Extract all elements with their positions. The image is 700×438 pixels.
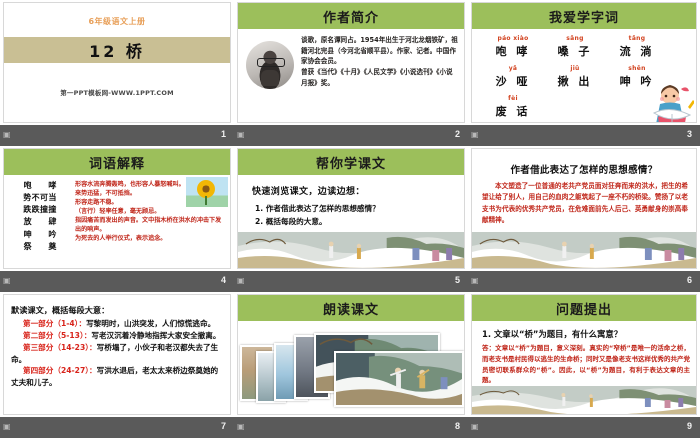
slide-number-8: 8: [455, 421, 460, 431]
word-pinyin: jiū: [544, 65, 606, 72]
slide-thumb-icon: ▣: [471, 422, 481, 432]
slide2-text-block: 谈歌，原名谭同占。1954年出生于河北龙烟铁矿，祖籍河北完县（今河北省顺平县）。…: [301, 35, 458, 89]
slide4-header: 词语解释: [4, 149, 230, 175]
part-label: 第四部分（24-27）：: [23, 366, 97, 375]
word-item: sǎng 嗓 子: [544, 36, 606, 59]
slide-thumbnail-8[interactable]: 朗读课文: [234, 292, 468, 438]
slide-number-7: 7: [221, 421, 226, 431]
term-item: 咆 哮: [9, 180, 71, 192]
slide6-body: 作者借此表达了怎样的思想感情？ 本文塑造了一位普通的老共产党员面对狂奔而来的洪水…: [472, 149, 696, 269]
slide-thumbnail-5[interactable]: 帮你学课文 快速浏览课文，边读边想： 1. 作者借此表达了怎样的思想感情？ 2.…: [234, 146, 468, 292]
term-item: 跌跌撞撞: [9, 204, 71, 216]
term-item: 祭 奠: [9, 241, 71, 253]
slide-thumb-icon: ▣: [237, 130, 247, 140]
slide6-question: 作者借此表达了怎样的思想感情？: [472, 149, 696, 176]
slide9-question: 1. 文章以“桥”为题目，有什么寓意？: [472, 321, 696, 340]
slide-number-1: 1: [221, 129, 226, 139]
slide-thumb-icon: ▣: [3, 276, 13, 286]
slide-thumb-icon: ▣: [471, 276, 481, 286]
slide7-part: 第三部分（14-23）：写桥塌了，小伙子和老汉都失去了生命。: [11, 342, 225, 366]
slide-statusbar-3: ▣ 3: [468, 125, 700, 146]
slide9-body: 1. 文章以“桥”为题目，有什么寓意？ 答：文章以“桥”为题目，意义深刻。真实的…: [472, 321, 696, 415]
slide5-question-1: 1. 作者借此表达了怎样的思想感情？: [255, 202, 456, 215]
slide1-title: 12 桥: [89, 38, 145, 62]
word-hanzi: 流 淌: [606, 43, 668, 59]
slide9-answer: 答：文章以“桥”为题目，意义深刻。真实的“窄桥”是唯一的活命之桥，而老支书是村民…: [472, 340, 696, 386]
word-hanzi: 嗓 子: [544, 43, 606, 59]
slide3-body: páo xiào 咆 哮 sǎng 嗓 子 tǎng 流 淌 yǎ: [472, 29, 696, 123]
slide-statusbar-6: ▣ 6: [468, 271, 700, 292]
word-item: fèi 废 话: [482, 96, 544, 119]
slide1-title-band: 12 桥: [4, 37, 230, 63]
slide-statusbar-7: ▣ 7: [0, 417, 234, 438]
slide-thumbnail-9[interactable]: 问题提出 1. 文章以“桥”为题目，有什么寓意？ 答：文章以“桥”为题目，意义深…: [468, 292, 700, 438]
word-pinyin: páo xiào: [482, 35, 544, 42]
word-hanzi: 废 话: [482, 103, 544, 119]
word-hanzi: 咆 哮: [482, 43, 544, 59]
slide2-header: 作者简介: [238, 3, 464, 29]
flood-illustration: [472, 232, 696, 269]
slide-statusbar-5: ▣ 5: [234, 271, 468, 292]
slide8-body: [238, 321, 464, 415]
slide6-answer: 本文塑造了一位普通的老共产党员面对狂奔而来的洪水，把生的希望让给了别人，用自己的…: [472, 176, 696, 226]
definition-item: 为死去的人举行仪式，表示追念。: [75, 234, 227, 243]
word-item: páo xiào 咆 哮: [482, 36, 544, 59]
slide-thumbnail-3[interactable]: 我爱学字词 páo xiào 咆 哮 sǎng 嗓 子 tǎng 流 淌: [468, 0, 700, 146]
slide5-body: 快速浏览课文，边读边想： 1. 作者借此表达了怎样的思想感情？ 2. 概括每段的…: [238, 175, 464, 269]
slide-thumb-icon: ▣: [3, 422, 13, 432]
part-label: 第一部分（1-4）：: [23, 319, 86, 328]
slide-thumb-icon: ▣: [237, 422, 247, 432]
slide-canvas-1[interactable]: 6年级语文上册 12 桥 第一PPT模板网-WWW.1PPT.COM: [3, 2, 231, 123]
part-label: 第二部分（5-13）：: [23, 331, 91, 340]
slide-thumb-icon: ▣: [237, 276, 247, 286]
word-pinyin: sǎng: [544, 35, 606, 42]
slide-thumb-icon: ▣: [3, 130, 13, 140]
slide-thumbnail-7[interactable]: 默读课文，概括每段大意： 第一部分（1-4）：写黎明时，山洪突发，人们惊慌逃命。…: [0, 292, 234, 438]
reading-girl-icon: [648, 83, 694, 123]
slide1-footer: 第一PPT模板网-WWW.1PPT.COM: [4, 87, 230, 97]
flood-illustration: [238, 232, 464, 269]
slide7-part: 第四部分（24-27）：写洪水退后，老太太来桥边祭奠她的丈夫和儿子。: [11, 365, 225, 389]
term-item: 呻 吟: [9, 229, 71, 241]
slide-thumb-icon: ▣: [471, 130, 481, 140]
slide4-body: 咆 哮 势不可当 跌跌撞撞 放 肆 呻 吟 祭 奠 形容水流奔腾轰鸣，也形容人暴…: [4, 175, 230, 269]
author-portrait-image: [246, 41, 294, 89]
word-pinyin: yǎ: [482, 65, 544, 72]
slide-number-6: 6: [687, 275, 692, 285]
word-pinyin: tǎng: [606, 35, 668, 42]
course-image-6: [334, 351, 464, 407]
word-hanzi: 沙 哑: [482, 73, 544, 89]
slide-canvas-2[interactable]: 作者简介 谈歌，原名谭同占。1954年出生于河北龙烟铁矿，祖籍河北完县（今河北省…: [237, 2, 465, 123]
part-text: 写老汉沉着冷静地指挥大家安全撤离。: [91, 331, 220, 340]
word-item: yǎ 沙 哑: [482, 66, 544, 89]
slide-canvas-8[interactable]: 朗读课文: [237, 294, 465, 415]
slide2-body: 谈歌，原名谭同占。1954年出生于河北龙烟铁矿，祖籍河北完县（今河北省顺平县）。…: [238, 29, 464, 123]
slide1-subtitle: 6年级语文上册: [4, 16, 230, 27]
part-label: 第三部分（14-23）：: [23, 343, 97, 352]
slide-statusbar-8: ▣ 8: [234, 417, 468, 438]
slide-canvas-4[interactable]: 词语解释 咆 哮 势不可当 跌跌撞撞 放 肆 呻 吟 祭 奠 形容水流奔腾轰鸣，…: [3, 148, 231, 269]
slide-statusbar-9: ▣ 9: [468, 417, 700, 438]
slide-thumbnail-4[interactable]: 词语解释 咆 哮 势不可当 跌跌撞撞 放 肆 呻 吟 祭 奠 形容水流奔腾轰鸣，…: [0, 146, 234, 292]
slide-number-5: 5: [455, 275, 460, 285]
slide7-part: 第二部分（5-13）：写老汉沉着冷静地指挥大家安全撤离。: [11, 330, 225, 342]
definition-item: 指因痛苦而发出的声音。文中指木桥在洪水的冲击下发出的响声。: [75, 216, 227, 234]
slide-canvas-9[interactable]: 问题提出 1. 文章以“桥”为题目，有什么寓意？ 答：文章以“桥”为题目，意义深…: [471, 294, 697, 415]
slide-canvas-5[interactable]: 帮你学课文 快速浏览课文，边读边想： 1. 作者借此表达了怎样的思想感情？ 2.…: [237, 148, 465, 269]
term-item: 放 肆: [9, 216, 71, 228]
slide2-paragraph-1: 谈歌，原名谭同占。1954年出生于河北龙烟铁矿，祖籍河北完县（今河北省顺平县）。…: [301, 35, 458, 67]
slide-canvas-6[interactable]: 作者借此表达了怎样的思想感情？ 本文塑造了一位普通的老共产党员面对狂奔而来的洪水…: [471, 148, 697, 269]
slide5-lead: 快速浏览课文，边读边想：: [252, 184, 456, 197]
definition-item: （言行）轻率任意，毫无顾忌。: [75, 207, 227, 216]
slide-statusbar-4: ▣ 4: [0, 271, 234, 292]
slide-canvas-7[interactable]: 默读课文，概括每段大意： 第一部分（1-4）：写黎明时，山洪突发，人们惊慌逃命。…: [3, 294, 231, 415]
word-item: jiū 揪 出: [544, 66, 606, 89]
slide-number-9: 9: [687, 421, 692, 431]
slide-canvas-3[interactable]: 我爱学字词 páo xiào 咆 哮 sǎng 嗓 子 tǎng 流 淌: [471, 2, 697, 123]
flood-illustration: [472, 386, 696, 415]
slide7-part: 第一部分（1-4）：写黎明时，山洪突发，人们惊慌逃命。: [11, 318, 225, 330]
slide-statusbar-2: ▣ 2: [234, 125, 468, 146]
slide5-question-2: 2. 概括每段的大意。: [255, 215, 456, 228]
word-pinyin: fèi: [482, 95, 544, 102]
word-hanzi: 揪 出: [544, 73, 606, 89]
slide-thumbnail-2[interactable]: 作者简介 谈歌，原名谭同占。1954年出生于河北龙烟铁矿，祖籍河北完县（今河北省…: [234, 0, 468, 146]
slide7-body: 默读课文，概括每段大意： 第一部分（1-4）：写黎明时，山洪突发，人们惊慌逃命。…: [4, 295, 230, 415]
word-pinyin: shēn: [606, 65, 668, 72]
slide-number-2: 2: [455, 129, 460, 139]
slide3-header: 我爱学字词: [472, 3, 696, 29]
slide9-header: 问题提出: [472, 295, 696, 321]
slide-thumbnail-6[interactable]: 作者借此表达了怎样的思想感情？ 本文塑造了一位普通的老共产党员面对狂奔而来的洪水…: [468, 146, 700, 292]
slide-number-3: 3: [687, 129, 692, 139]
slide2-paragraph-2: 曾获《当代》《十月》《人民文学》《小说选刊》《小说月报》奖。: [301, 67, 458, 88]
term-list: 咆 哮 势不可当 跌跌撞撞 放 肆 呻 吟 祭 奠: [9, 180, 71, 269]
slide-statusbar-1: ▣ 1: [0, 125, 234, 146]
slide5-header: 帮你学课文: [238, 149, 464, 175]
slide-thumbnail-grid: 6年级语文上册 12 桥 第一PPT模板网-WWW.1PPT.COM ▣ 1 作…: [0, 0, 700, 438]
word-item: tǎng 流 淌: [606, 36, 668, 59]
slide7-lead: 默读课文，概括每段大意：: [11, 304, 225, 316]
slide-number-4: 4: [221, 275, 226, 285]
sunflower-icon: [186, 177, 228, 207]
term-item: 势不可当: [9, 192, 71, 204]
slide8-header: 朗读课文: [238, 295, 464, 321]
slide-thumbnail-1[interactable]: 6年级语文上册 12 桥 第一PPT模板网-WWW.1PPT.COM ▣ 1: [0, 0, 234, 146]
part-text: 写黎明时，山洪突发，人们惊慌逃命。: [86, 319, 215, 328]
word-row: páo xiào 咆 哮 sǎng 嗓 子 tǎng 流 淌: [482, 36, 692, 59]
